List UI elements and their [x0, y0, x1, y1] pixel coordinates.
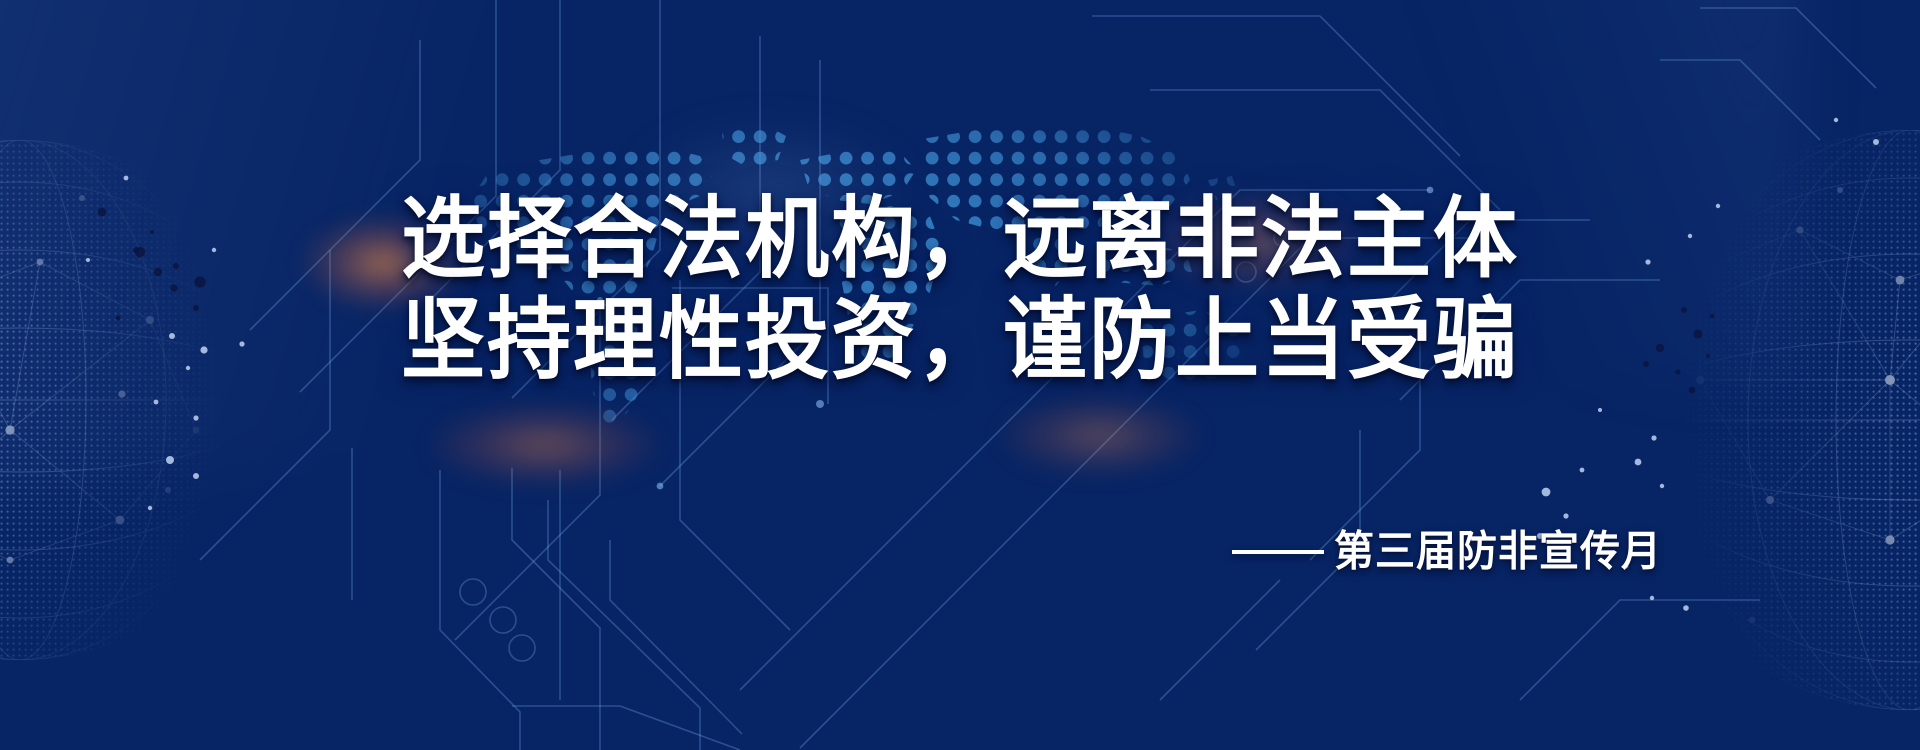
attribution-block: 第三届防非宣传月: [1232, 528, 1662, 576]
promo-banner: 选择合法机构，远离非法主体 坚持理性投资，谨防上当受骗 第三届防非宣传月: [0, 0, 1920, 750]
attribution-text: 第三届防非宣传月: [1334, 527, 1662, 577]
attribution-dash-rule: [1232, 550, 1324, 554]
headline-block: 选择合法机构，远离非法主体 坚持理性投资，谨防上当受骗: [0, 186, 1920, 388]
headline-line-1: 选择合法机构，远离非法主体: [0, 186, 1920, 293]
headline-line-2: 坚持理性投资，谨防上当受骗: [0, 287, 1920, 394]
